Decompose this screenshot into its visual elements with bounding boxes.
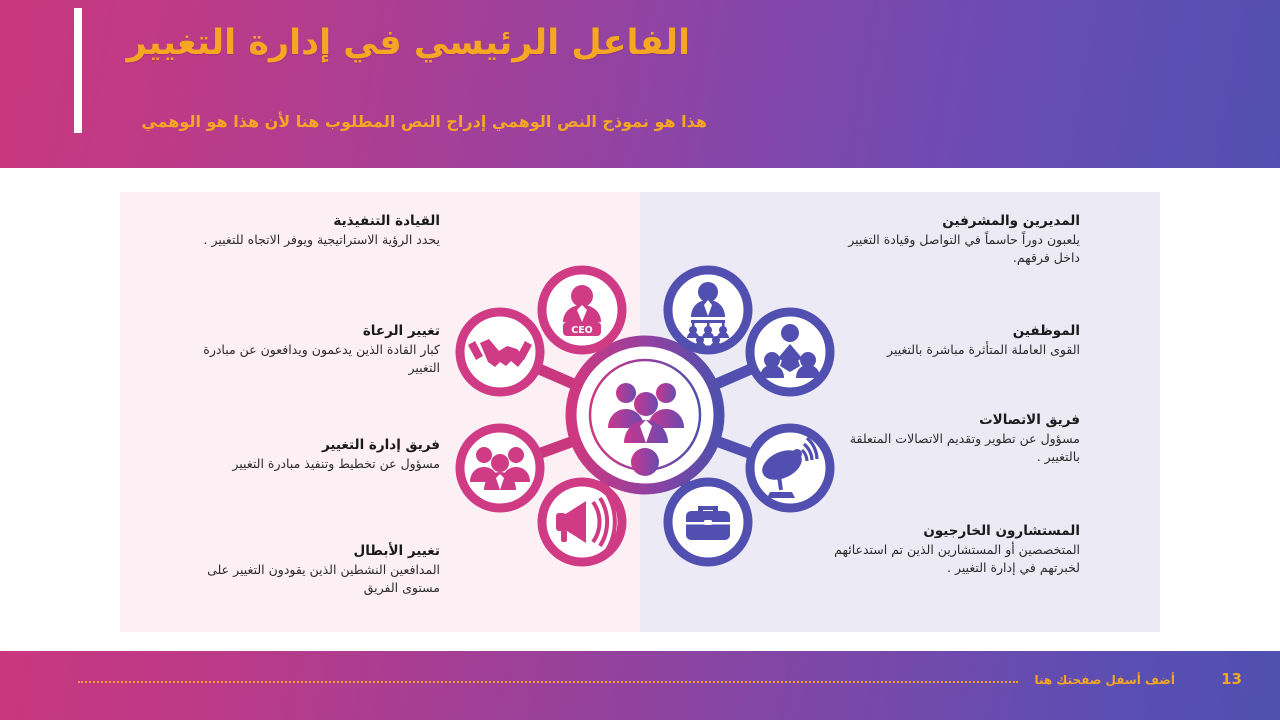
- right-item-managers-supervisors: المديرين والمشرفين يلعبون دوراً حاسماً ف…: [840, 212, 1080, 267]
- briefcase-icon: [686, 506, 730, 540]
- item-body: مسؤول عن تخطيط وتنفيذ مبادرة التغيير: [200, 455, 440, 473]
- item-body: يلعبون دوراً حاسماً في التواصل وقيادة ال…: [840, 231, 1080, 267]
- footer-dotted-line: [78, 681, 1018, 683]
- right-item-external-consultants: المستشارون الخارجيون المتخصصين أو المستش…: [830, 522, 1080, 577]
- item-title: فريق الاتصالات: [840, 411, 1080, 429]
- svg-text:CEO: CEO: [571, 325, 593, 336]
- node-briefcase[interactable]: [668, 482, 748, 562]
- node-megaphone[interactable]: [542, 482, 622, 562]
- right-item-employees: الموظفين القوى العاملة المتأثرة مباشرة ب…: [840, 322, 1080, 359]
- node-handshake[interactable]: [460, 312, 540, 392]
- left-item-executive-leadership: القيادة التنفيذية يحدد الرؤية الاستراتيج…: [200, 212, 440, 249]
- item-title: الموظفين: [840, 322, 1080, 340]
- item-title: المديرين والمشرفين: [840, 212, 1080, 230]
- slide-title: الفاعل الرئيسي في إدارة التغيير: [90, 22, 690, 66]
- item-title: تغيير الأبطال: [175, 542, 440, 560]
- item-body: المدافعين النشطين الذين يقودون التغيير ع…: [175, 561, 440, 597]
- header-accent-bar: [74, 8, 82, 133]
- item-body: كبار القادة الذين يدعمون ويدافعون عن مبا…: [200, 341, 440, 377]
- item-title: تغيير الرعاة: [200, 322, 440, 340]
- left-item-change-champions: تغيير الأبطال المدافعين النشطين الذين يق…: [175, 542, 440, 597]
- node-org-chart-manager[interactable]: [668, 270, 748, 350]
- item-title: المستشارون الخارجيون: [830, 522, 1080, 540]
- page-number: 13: [1221, 670, 1242, 688]
- footer-label: أضف أسفل صفحتك هنا: [1035, 673, 1175, 687]
- slide-subtitle: هذا هو نموذج النص الوهمي إدراج النص المط…: [87, 112, 707, 131]
- item-title: القيادة التنفيذية: [200, 212, 440, 230]
- right-item-communications-team: فريق الاتصالات مسؤول عن تطوير وتقديم الا…: [840, 411, 1080, 466]
- item-body: المتخصصين أو المستشارين الذين تم استدعائ…: [830, 541, 1080, 577]
- left-item-change-management-team: فريق إدارة التغيير مسؤول عن تخطيط وتنفيذ…: [200, 436, 440, 473]
- node-satellite-dish[interactable]: [750, 428, 830, 508]
- node-workforce[interactable]: [750, 312, 830, 392]
- item-body: القوى العاملة المتأثرة مباشرة بالتغيير: [840, 341, 1080, 359]
- slide-header: الفاعل الرئيسي في إدارة التغيير هذا هو ن…: [0, 0, 1280, 168]
- item-body: يحدد الرؤية الاستراتيجية ويوفر الاتجاه ل…: [200, 231, 440, 249]
- hub-and-spoke-diagram: CEO: [430, 200, 860, 630]
- slide-footer: أضف أسفل صفحتك هنا 13: [0, 651, 1280, 720]
- node-team-group[interactable]: [460, 428, 540, 508]
- item-title: فريق إدارة التغيير: [200, 436, 440, 454]
- item-body: مسؤول عن تطوير وتقديم الاتصالات المتعلقة…: [840, 430, 1080, 466]
- node-ceo[interactable]: CEO: [542, 270, 622, 350]
- hub-node[interactable]: [571, 341, 719, 489]
- left-item-change-sponsors: تغيير الرعاة كبار القادة الذين يدعمون وي…: [200, 322, 440, 377]
